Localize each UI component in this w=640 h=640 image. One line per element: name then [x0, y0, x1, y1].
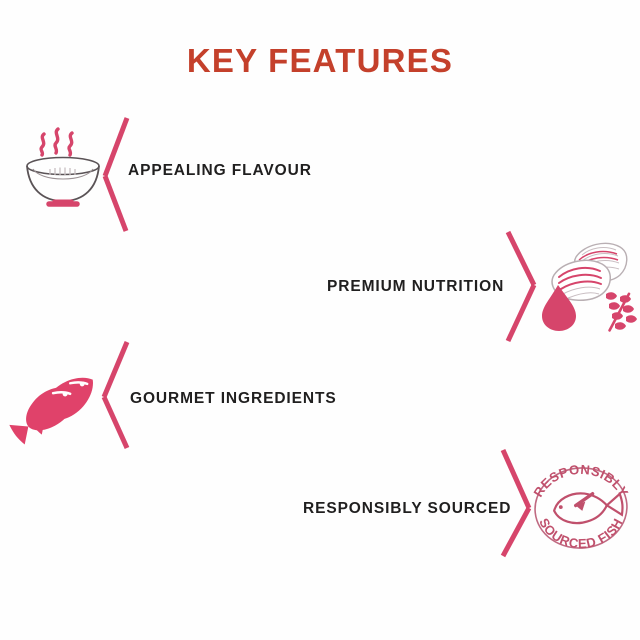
infographic-canvas: KEY FEATURES [0, 0, 640, 640]
badge-bottom-text: SOURCED FISH [536, 516, 626, 552]
feature-label-gourmet-ingredients: GOURMET INGREDIENTS [130, 390, 337, 408]
svg-text:SOURCED FISH: SOURCED FISH [536, 516, 626, 552]
feature-label-responsibly-sourced: RESPONSIBLY SOURCED [303, 500, 511, 518]
two-fish-icon [18, 350, 110, 448]
feature-row-responsibly-sourced[interactable]: RESPONSIBLY SOURCED FISH RESPONSIBLY SOU… [0, 442, 640, 582]
fish-fillet-droplet-grain-icon [532, 227, 638, 337]
feature-label-appealing-flavour: APPEALING FLAVOUR [128, 162, 312, 180]
responsibly-sourced-fish-badge-icon: RESPONSIBLY SOURCED FISH [528, 460, 634, 556]
page-title: KEY FEATURES [0, 42, 640, 80]
feature-row-appealing-flavour[interactable]: APPEALING FLAVOUR [0, 100, 640, 240]
steaming-bowl-icon [18, 112, 108, 212]
feature-label-premium-nutrition: PREMIUM NUTRITION [327, 278, 504, 296]
